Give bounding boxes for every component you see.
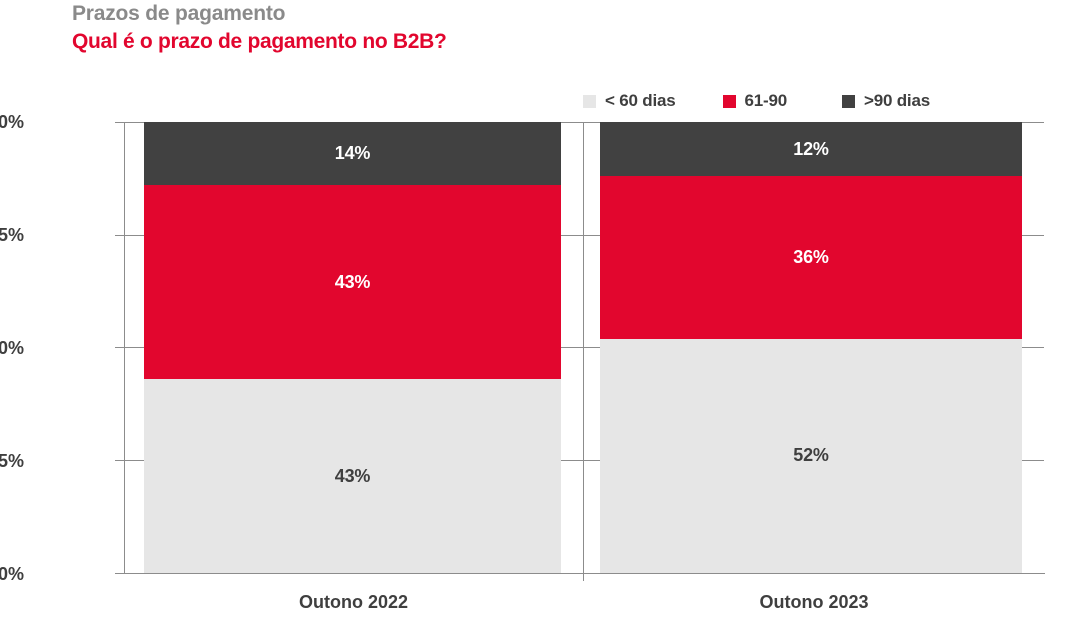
bar-segment-label-gt90-2023: 12% [793, 139, 828, 160]
y-tick-label-75: 75% [0, 225, 24, 246]
y-tick-label-50: 50% [0, 338, 24, 359]
bar-segment-label-61-90-2023: 36% [793, 247, 828, 268]
bar-segment-61-90-2022[interactable]: 43% [144, 185, 561, 379]
chart-title: Qual é o prazo de pagamento no B2B? [72, 30, 447, 54]
legend-swatch-lt60-icon [583, 95, 596, 108]
category-separator-line [583, 122, 584, 581]
legend-item-61-90[interactable]: 61-90 [723, 91, 787, 111]
chart-legend: < 60 dias 61-90 >90 dias [583, 88, 930, 114]
bar-segment-label-gt90-2022: 14% [335, 143, 370, 164]
bar-segment-label-lt60-2022: 43% [335, 466, 370, 487]
bar-segment-gt90-2023[interactable]: 12% [600, 122, 1022, 176]
legend-swatch-61-90-icon [723, 95, 736, 108]
bar-segment-gt90-2022[interactable]: 14% [144, 122, 561, 185]
legend-swatch-gt90-icon [842, 95, 855, 108]
chart-root: Prazos de pagamento Qual é o prazo de pa… [0, 0, 1084, 625]
y-axis-line [124, 122, 125, 574]
x-category-label-outono-2022: Outono 2022 [124, 592, 583, 613]
legend-item-gt90[interactable]: >90 dias [842, 91, 930, 111]
legend-label-61-90: 61-90 [745, 91, 787, 111]
x-category-label-outono-2023: Outono 2023 [584, 592, 1044, 613]
bar-segment-lt60-2023[interactable]: 52% [600, 339, 1022, 574]
bar-segment-61-90-2023[interactable]: 36% [600, 176, 1022, 338]
bar-segment-label-61-90-2022: 43% [335, 272, 370, 293]
bar-outono-2022[interactable]: 43% 43% 14% [144, 122, 561, 573]
legend-label-gt90: >90 dias [864, 91, 930, 111]
bar-segment-lt60-2022[interactable]: 43% [144, 379, 561, 573]
legend-label-lt60: < 60 dias [605, 91, 676, 111]
legend-item-lt60[interactable]: < 60 dias [583, 91, 676, 111]
bar-outono-2023[interactable]: 52% 36% 12% [600, 122, 1022, 573]
y-tick-label-25: 25% [0, 451, 24, 472]
plot-area: 43% 43% 14% 52% 36% 12% [124, 122, 1044, 573]
y-tick-label-100: 100% [0, 112, 24, 133]
chart-subtitle: Prazos de pagamento [72, 2, 285, 26]
bar-segment-label-lt60-2023: 52% [793, 445, 828, 466]
y-tick-label-0: 0% [0, 564, 24, 585]
x-axis-line [124, 573, 1045, 574]
